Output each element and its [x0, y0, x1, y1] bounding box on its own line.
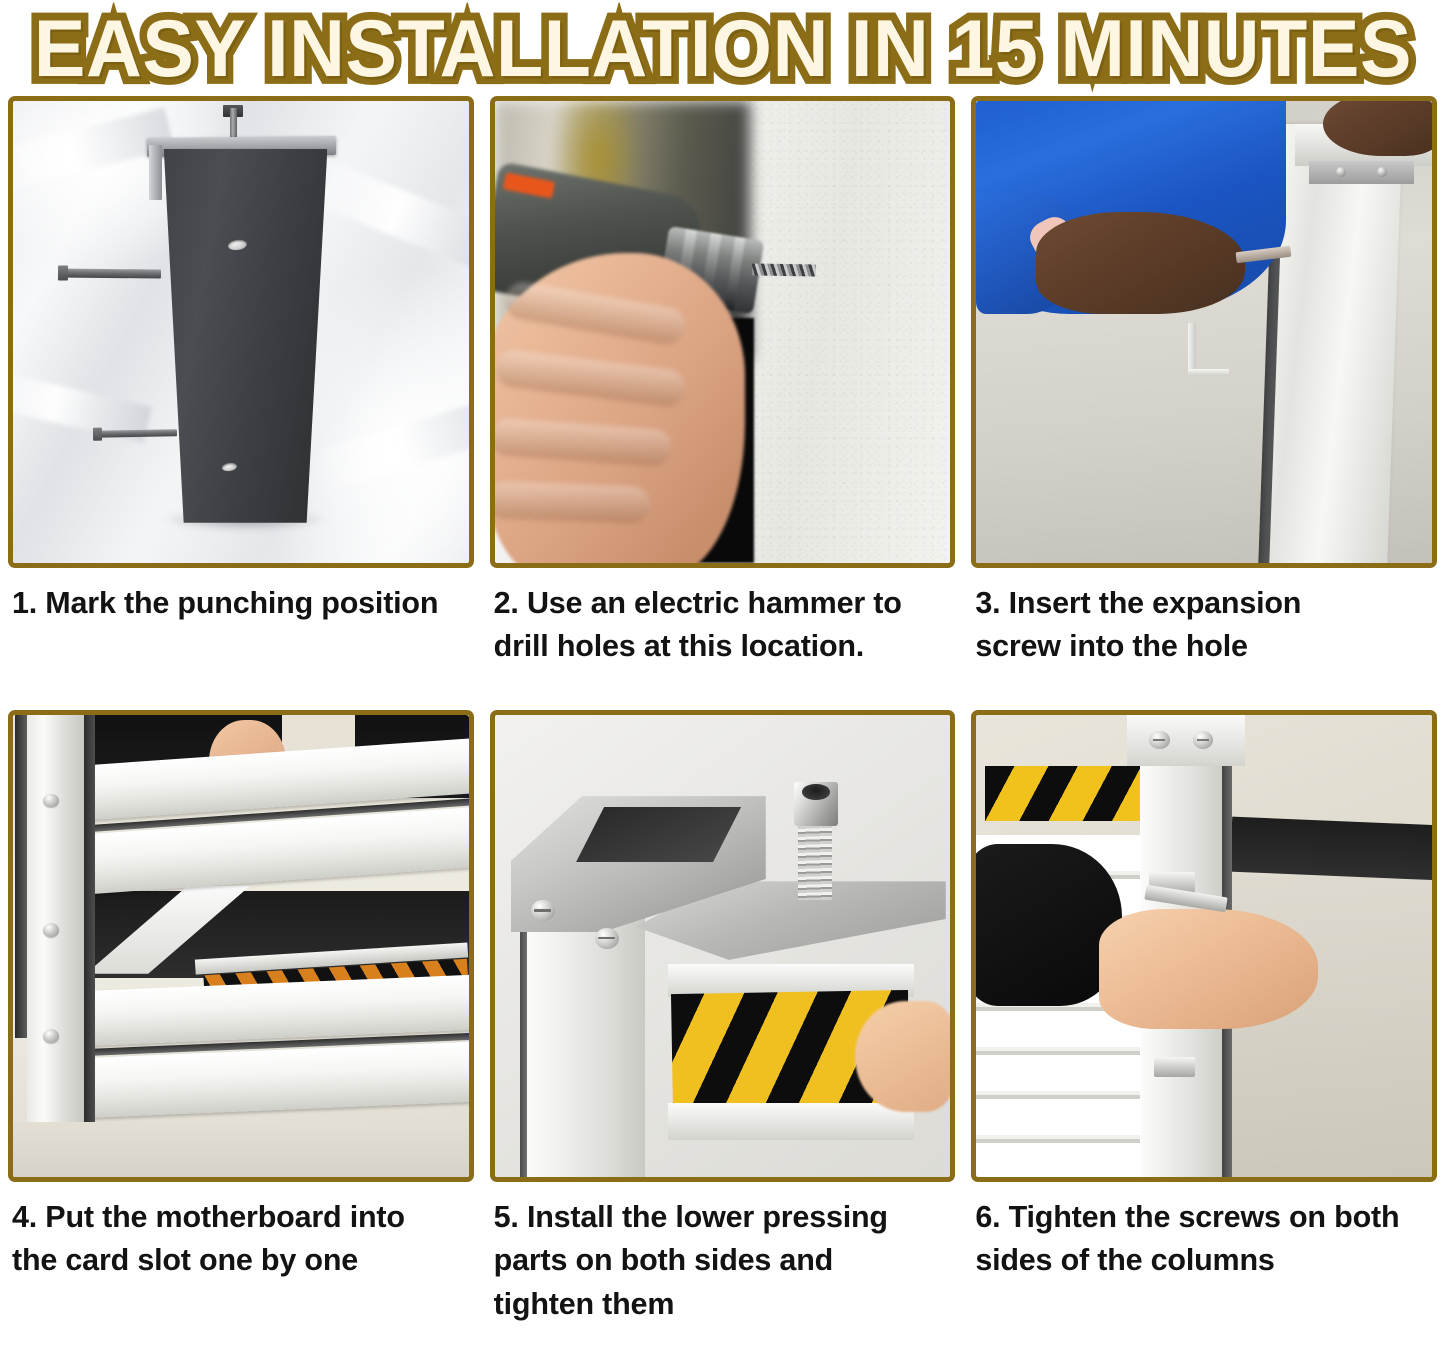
step-caption-5: 5. Install the lower pressing parts on b… [494, 1196, 954, 1326]
masonry-drill-bit [752, 263, 816, 276]
step-caption-1: 1. Mark the punching position [12, 582, 472, 694]
step-card-2: 2. Use an electric hammer to drill holes… [482, 96, 964, 694]
column-top-cap [1127, 715, 1245, 766]
step-caption-4: 4. Put the motherboard into the card slo… [12, 1196, 472, 1326]
hex-key-on-floor [1188, 323, 1196, 374]
step-photo-1 [13, 101, 469, 563]
floor-strip [13, 1122, 469, 1177]
step-image-frame-5 [490, 710, 956, 1182]
step-photo-6 [976, 715, 1432, 1177]
post-screw [43, 923, 59, 937]
hex-key-on-floor [1188, 369, 1229, 376]
step-image-frame-1 [8, 96, 474, 568]
bracket-slot [576, 807, 741, 862]
steps-row-2: 4. Put the motherboard into the card slo… [0, 710, 1445, 1326]
bolt-socket-recess [802, 784, 829, 800]
cap-screw [1149, 731, 1169, 749]
step-image-frame-4 [8, 710, 474, 1182]
step-card-6: 6. Tighten the screws on both sides of t… [963, 710, 1445, 1326]
step-card-1: 1. Mark the punching position [0, 96, 482, 694]
steps-row-1: 1. Mark the punching position [0, 96, 1445, 694]
page-header: EASY INSTALLATION IN 15 MINUTES [0, 0, 1445, 96]
finger [495, 482, 651, 525]
step-caption-3: 3. Insert the expansion screw into the h… [975, 582, 1435, 694]
side-bolt-lower [1154, 1057, 1195, 1077]
step-caption-2: 2. Use an electric hammer to drill holes… [494, 582, 954, 694]
expansion-bolt-upper [58, 269, 161, 279]
dark-baseboard [1230, 817, 1432, 881]
step-photo-5 [495, 715, 951, 1177]
page-title: EASY INSTALLATION IN 15 MINUTES [33, 8, 1411, 89]
post-left-edge [15, 715, 27, 1038]
step-image-frame-2 [490, 96, 956, 568]
cap-screw [1193, 731, 1213, 749]
installer-finger [855, 1001, 951, 1112]
board-bottom-strip [668, 1103, 914, 1140]
installer-hand [1099, 909, 1318, 1029]
bolt-shaft [798, 821, 832, 900]
step-card-3: 3. Insert the expansion screw into the h… [963, 96, 1445, 694]
hazard-stripe-tape [985, 766, 1140, 821]
step-caption-6: 6. Tighten the screws on both sides of t… [975, 1196, 1435, 1326]
aluminum-column [1269, 124, 1403, 563]
step-photo-2 [495, 101, 951, 563]
mounting-plate [1309, 161, 1414, 184]
step-image-frame-3 [971, 96, 1437, 568]
bracket-screw [595, 928, 619, 949]
bracket-screw [531, 900, 555, 921]
installation-steps-grid: 1. Mark the punching position [0, 96, 1445, 1326]
guide-post [27, 715, 86, 1122]
step-card-5: 5. Install the lower pressing parts on b… [482, 710, 964, 1326]
post-channel-shadow [84, 715, 95, 1122]
step-photo-3 [976, 101, 1432, 563]
column-cap-side [149, 145, 163, 200]
textured-wall [748, 101, 951, 563]
step-image-frame-6 [971, 710, 1437, 1182]
column-post [527, 909, 645, 1177]
worker-arm [1036, 212, 1246, 314]
step-photo-4 [13, 715, 469, 1177]
step-card-4: 4. Put the motherboard into the card slo… [0, 710, 482, 1326]
